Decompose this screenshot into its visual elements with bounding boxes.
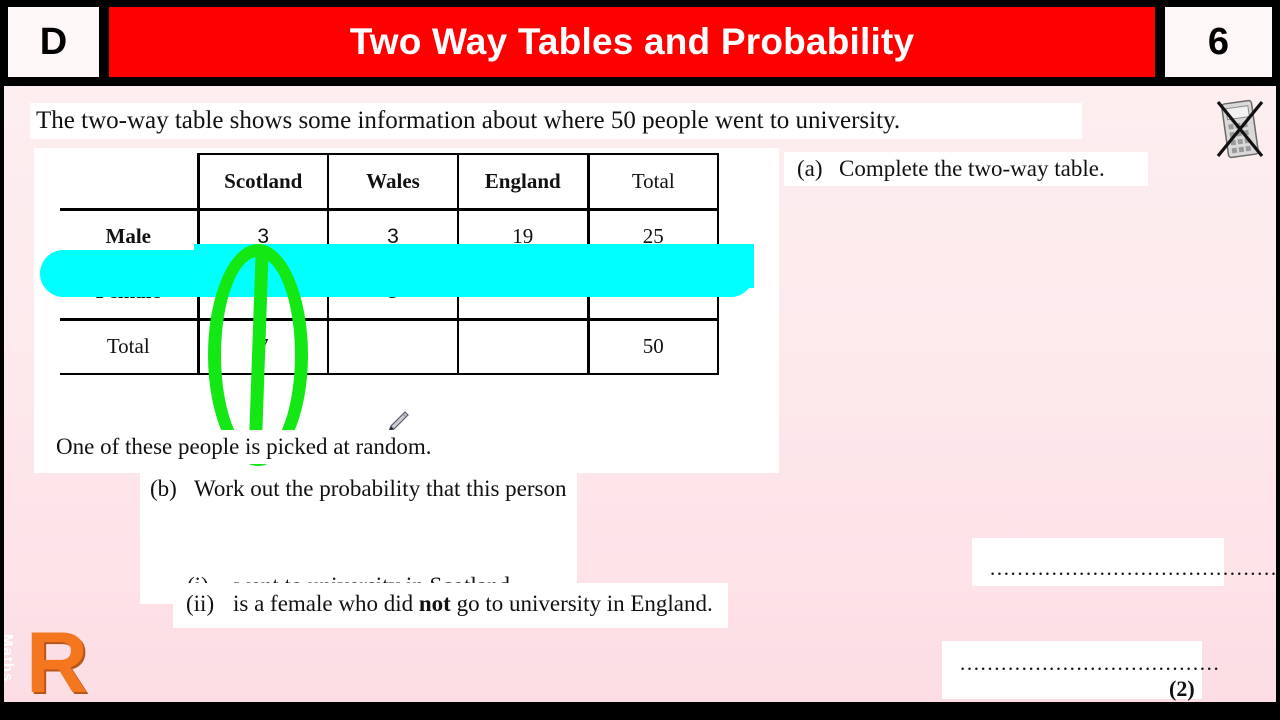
- part-a-label: (a): [797, 156, 839, 182]
- table-corner-cell: [60, 154, 198, 209]
- page-title: Two Way Tables and Probability: [350, 21, 915, 63]
- part-a-text: Complete the two-way table.: [839, 156, 1105, 181]
- question-number-badge: 6: [1163, 5, 1274, 79]
- part-b-ii-text-before: is a female who did: [233, 591, 419, 616]
- column-header-wales: Wales: [328, 154, 458, 209]
- cell-total-wales[interactable]: [328, 319, 458, 374]
- calculator-not-allowed-icon: [1212, 96, 1268, 162]
- cell-female-england[interactable]: [458, 264, 588, 319]
- cell-total-england[interactable]: [458, 319, 588, 374]
- table-row-male: Male 3 3 19 25: [60, 209, 718, 264]
- row-label-female: Female: [60, 264, 198, 319]
- two-way-table-panel: Scotland Wales England Total Male 3 3 19…: [34, 148, 779, 473]
- cell-female-total[interactable]: [588, 264, 718, 319]
- two-way-table: Scotland Wales England Total Male 3 3 19…: [60, 153, 719, 375]
- part-b-ii-emphasis: not: [419, 591, 451, 616]
- part-a-line: (a)Complete the two-way table.: [797, 156, 1105, 182]
- row-label-total: Total: [60, 319, 198, 374]
- intro-text: The two-way table shows some information…: [36, 107, 900, 135]
- part-b-label: (b): [150, 476, 194, 502]
- cell-female-wales[interactable]: 5: [328, 264, 458, 319]
- part-b-ii-label: (ii): [186, 591, 233, 617]
- column-header-scotland: Scotland: [198, 154, 328, 209]
- cell-total-total[interactable]: 50: [588, 319, 718, 374]
- part-b-line: (b)Work out the probability that this pe…: [150, 476, 566, 502]
- cell-male-total[interactable]: 25: [588, 209, 718, 264]
- slide-screen: D Two Way Tables and Probability 6: [0, 0, 1280, 720]
- cell-female-scotland[interactable]: 4: [198, 264, 328, 319]
- rmaths-logo: R Maths: [12, 624, 98, 702]
- part-b-text: Work out the probability that this perso…: [194, 476, 566, 501]
- table-row-female: Female 4 5: [60, 264, 718, 319]
- logo-letter: R: [26, 620, 88, 702]
- answer-dotted-line-bii: ......................................: [960, 651, 1220, 676]
- part-b-ii-text-after: go to university in England.: [451, 591, 713, 616]
- header-bar: D Two Way Tables and Probability 6: [0, 0, 1280, 84]
- cell-male-scotland[interactable]: 3: [198, 209, 328, 264]
- row-label-male: Male: [60, 209, 198, 264]
- column-header-total: Total: [588, 154, 718, 209]
- cell-male-wales[interactable]: 3: [328, 209, 458, 264]
- marks-indicator-bii: (2): [1169, 676, 1195, 702]
- random-pick-text: One of these people is picked at random.: [56, 434, 432, 460]
- cell-total-scotland[interactable]: 7: [198, 319, 328, 374]
- table-header-row: Scotland Wales England Total: [60, 154, 718, 209]
- logo-word: Maths: [4, 634, 16, 682]
- answer-dotted-line-bi: ........................................…: [990, 556, 1276, 581]
- worksheet-page: The two-way table shows some information…: [4, 86, 1276, 702]
- cell-male-england[interactable]: 19: [458, 209, 588, 264]
- title-banner: Two Way Tables and Probability: [107, 5, 1157, 79]
- part-b-ii-line: (ii)is a female who did not go to univer…: [186, 591, 713, 617]
- column-header-england: England: [458, 154, 588, 209]
- table-row-total: Total 7 50: [60, 319, 718, 374]
- grade-badge: D: [6, 5, 101, 79]
